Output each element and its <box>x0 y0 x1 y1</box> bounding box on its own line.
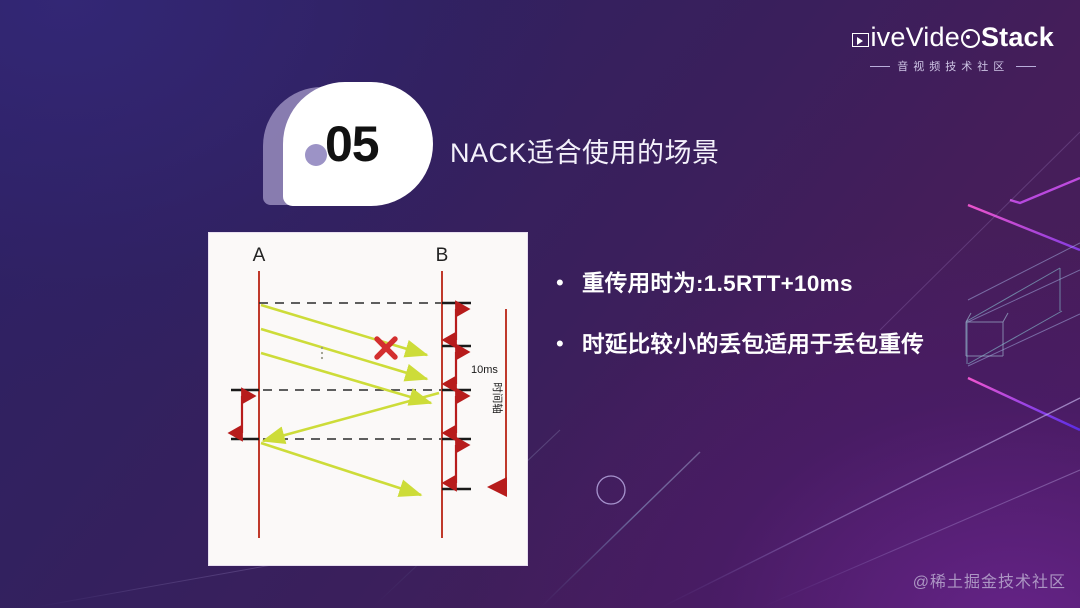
sequence-diagram: A B <box>209 233 529 567</box>
ring-icon <box>961 29 980 48</box>
watermark: @稀土掘金技术社区 <box>913 568 1066 592</box>
lifeline-b-label: B <box>436 245 449 266</box>
ellipsis-icon <box>321 347 323 359</box>
retransmit-arrow <box>261 443 421 495</box>
logo-text-v: V <box>906 22 924 52</box>
badge-number: 05 <box>325 111 411 177</box>
message-arrow-1 <box>261 305 427 355</box>
section-number-badge: 05 <box>263 82 443 210</box>
page-title: NACK适合使用的场景 <box>450 131 720 170</box>
badge-dot <box>305 144 327 166</box>
bullet-marker-icon: • <box>556 329 582 359</box>
message-arrow-3 <box>261 353 431 403</box>
list-item: • 时延比较小的丢包适用于丢包重传 <box>556 329 956 360</box>
brand-logo: iveVideStack 音视频技术社区 <box>852 22 1054 74</box>
interval-label: 10ms <box>471 364 498 376</box>
bullet-text: 时延比较小的丢包适用于丢包重传 <box>582 329 924 360</box>
logo-subtitle: 音视频技术社区 <box>897 58 1009 74</box>
bullet-text: 重传用时为:1.5RTT+10ms <box>582 268 853 299</box>
logo-rule-left <box>870 66 890 67</box>
nack-arrow <box>263 393 439 441</box>
message-arrow-2 <box>261 329 427 379</box>
logo-text-live: ive <box>870 22 905 52</box>
lifeline-a-label: A <box>253 245 266 266</box>
logo-rule-right <box>1016 66 1036 67</box>
logo-wordmark: iveVideStack <box>852 22 1054 53</box>
sequence-diagram-panel: A B <box>208 232 528 566</box>
bullet-marker-icon: • <box>556 268 582 298</box>
list-item: • 重传用时为:1.5RTT+10ms <box>556 268 956 299</box>
time-axis-label: 时间轴 <box>491 382 504 414</box>
logo-subtitle-row: 音视频技术社区 <box>852 58 1054 74</box>
play-icon <box>852 33 869 47</box>
logo-text-ideo: ide <box>923 22 960 52</box>
slide-root: iveVideStack 音视频技术社区 05 NACK适合使用的场景 • 重传… <box>0 0 1080 608</box>
logo-text-stack: Stack <box>981 22 1054 52</box>
bullet-list: • 重传用时为:1.5RTT+10ms • 时延比较小的丢包适用于丢包重传 <box>556 268 956 390</box>
